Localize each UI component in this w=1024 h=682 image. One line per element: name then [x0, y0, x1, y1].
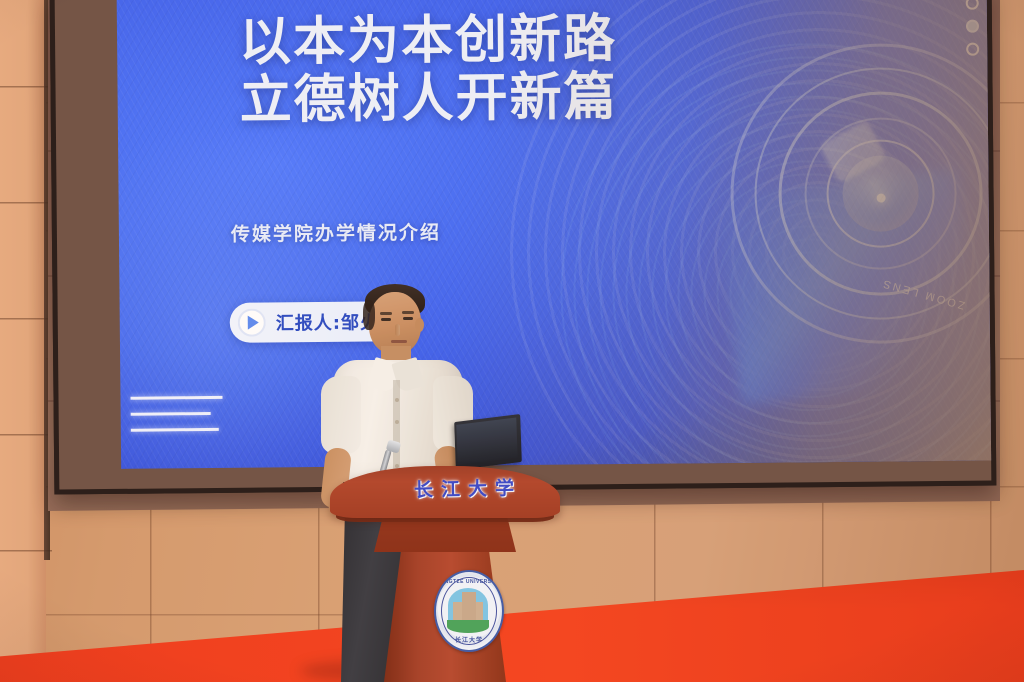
emblem-building-tower — [462, 592, 476, 620]
mouth — [391, 340, 407, 343]
lectern-neck — [374, 518, 516, 552]
shirt-sleeve-left — [321, 376, 361, 454]
projector-falloff — [117, 0, 992, 469]
lectern-university-name: 长江大学 — [414, 473, 555, 503]
head — [369, 292, 421, 354]
projection-screen: ZOOM LENS 以本为本创新路 立德树人开新篇 传媒学院办学情况介绍 汇报人… — [50, 0, 997, 495]
ear — [415, 318, 424, 332]
hair-side — [363, 300, 375, 330]
eyebrow-right — [402, 311, 414, 314]
nose — [395, 324, 400, 336]
laptop-screen-glow — [456, 418, 517, 465]
screen-surface: ZOOM LENS 以本为本创新路 立德树人开新篇 传媒学院办学情况介绍 汇报人… — [55, 0, 992, 489]
shirt-button-1 — [395, 398, 399, 402]
emblem-outer-text: YANGTZE UNIVERSITY — [436, 579, 502, 585]
slide-content: ZOOM LENS 以本为本创新路 立德树人开新篇 传媒学院办学情况介绍 汇报人… — [117, 0, 992, 469]
eye-left — [381, 318, 391, 321]
yangtze-university-emblem: YANGTZE UNIVERSITY 长江大学 — [434, 570, 504, 652]
eye-right — [403, 317, 413, 320]
presentation-scene: ZOOM LENS 以本为本创新路 立德树人开新篇 传媒学院办学情况介绍 汇报人… — [0, 0, 1024, 682]
lectern: 长江大学 YANGTZE UNIVERSITY 长江大学 — [330, 462, 560, 682]
shirt-button-2 — [395, 420, 399, 424]
emblem-grass — [447, 620, 489, 633]
eyebrow-left — [380, 312, 392, 315]
emblem-inner-text: 长江大学 — [436, 635, 502, 644]
